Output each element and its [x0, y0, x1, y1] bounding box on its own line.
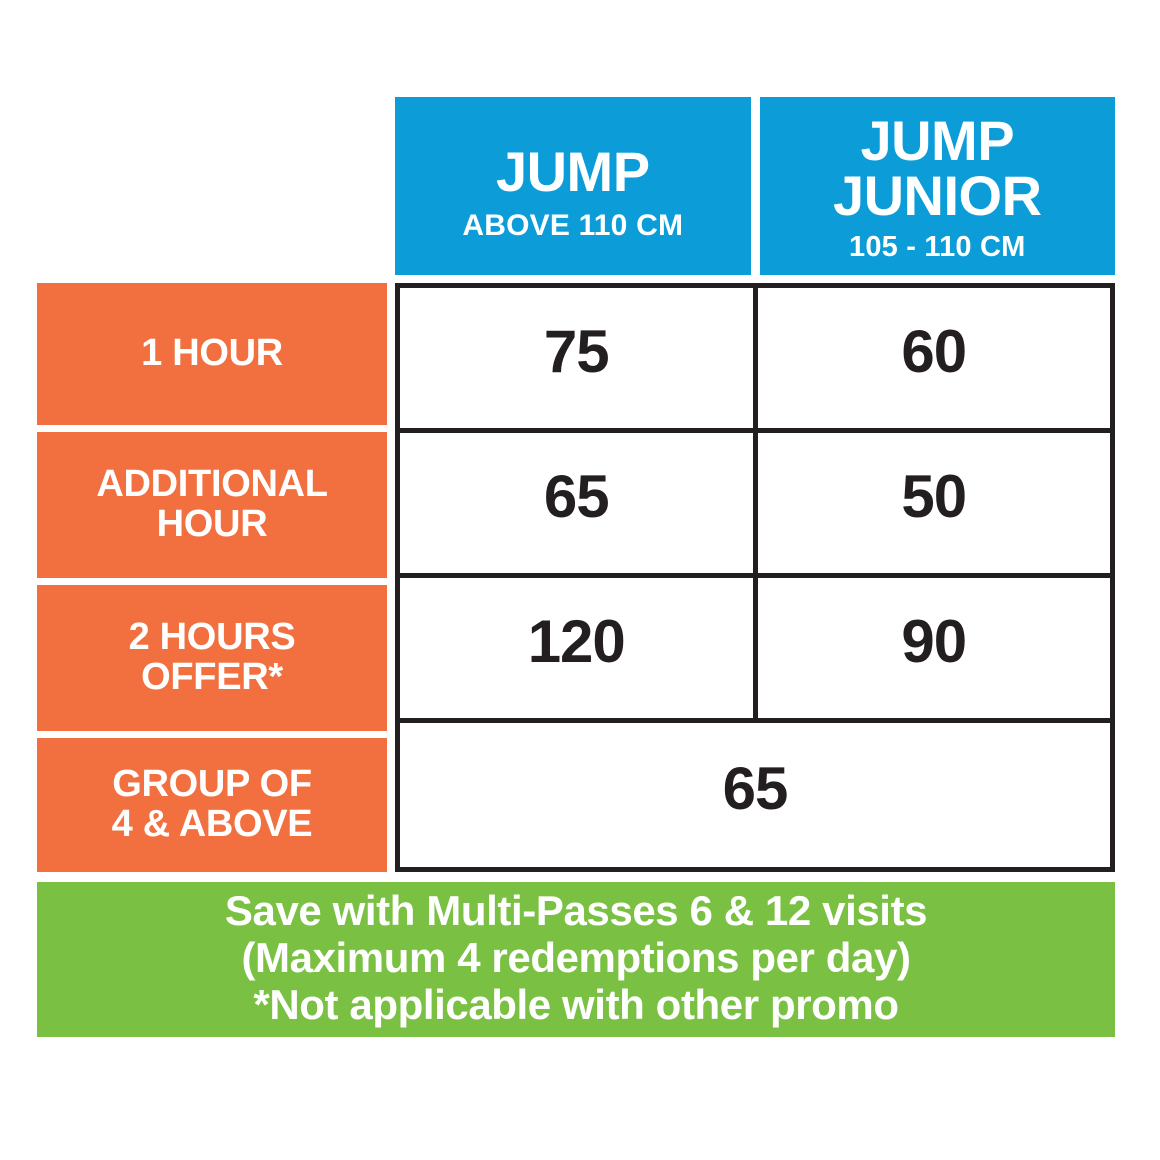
- column-header-jump-junior-title-line2: JUNIOR: [833, 169, 1042, 224]
- price-value-1-hour-jump-junior: 60: [901, 322, 966, 382]
- row-labels-column: 1 HOUR ADDITIONAL HOUR 2 HOURS OFFER* GR…: [37, 283, 387, 872]
- column-header-jump-junior: JUMP JUNIOR 105 - 110 CM: [760, 97, 1116, 275]
- price-cell-group-of-4-merged: 65: [400, 723, 1110, 867]
- price-value-additional-hour-jump: 65: [544, 467, 609, 527]
- row-label-group-of-4-line1: GROUP OF: [112, 763, 312, 805]
- column-header-jump: JUMP ABOVE 110 CM: [395, 97, 751, 275]
- price-value-1-hour-jump: 75: [544, 322, 609, 382]
- price-table: 75 60 65 50 120 90 65: [395, 283, 1115, 872]
- table-header-row: JUMP ABOVE 110 CM JUMP JUNIOR 105 - 110 …: [395, 97, 1115, 275]
- price-row-1-hour: 75 60: [400, 288, 1110, 433]
- row-label-additional-hour: ADDITIONAL HOUR: [37, 432, 387, 578]
- row-label-additional-hour-line1: ADDITIONAL: [96, 463, 327, 505]
- column-header-jump-title: JUMP: [496, 145, 650, 200]
- price-cell-additional-hour-jump: 65: [400, 433, 758, 573]
- column-header-jump-junior-title: JUMP: [860, 114, 1014, 169]
- row-label-2-hours-offer-text: 2 HOURS OFFER*: [129, 618, 296, 697]
- price-cell-1-hour-jump-junior: 60: [758, 288, 1111, 428]
- footer-notes-banner: Save with Multi-Passes 6 & 12 visits (Ma…: [37, 882, 1115, 1037]
- row-label-1-hour: 1 HOUR: [37, 283, 387, 425]
- row-label-group-of-4-line2: 4 & ABOVE: [112, 803, 313, 845]
- row-label-group-of-4: GROUP OF 4 & ABOVE: [37, 738, 387, 872]
- price-cell-2-hours-offer-jump: 120: [400, 578, 758, 718]
- price-row-group-of-4: 65: [400, 723, 1110, 867]
- price-value-group-of-4: 65: [723, 759, 788, 819]
- price-value-additional-hour-jump-junior: 50: [901, 467, 966, 527]
- footer-note-line-3: *Not applicable with other promo: [253, 981, 898, 1028]
- pricing-card: JUMP ABOVE 110 CM JUMP JUNIOR 105 - 110 …: [0, 0, 1160, 1160]
- footer-note-line-2: (Maximum 4 redemptions per day): [241, 934, 910, 981]
- row-label-1-hour-line1: 1 HOUR: [141, 332, 283, 374]
- price-cell-2-hours-offer-jump-junior: 90: [758, 578, 1111, 718]
- row-label-group-of-4-text: GROUP OF 4 & ABOVE: [112, 765, 313, 844]
- row-label-additional-hour-line2: HOUR: [157, 503, 268, 545]
- footer-note-line-1: Save with Multi-Passes 6 & 12 visits: [225, 887, 927, 934]
- row-label-1-hour-text: 1 HOUR: [141, 334, 283, 374]
- row-label-2-hours-offer-line1: 2 HOURS: [129, 616, 296, 658]
- column-header-jump-junior-subtitle: 105 - 110 CM: [849, 231, 1026, 264]
- row-label-2-hours-offer-line2: OFFER*: [141, 656, 283, 698]
- row-label-2-hours-offer: 2 HOURS OFFER*: [37, 585, 387, 731]
- price-cell-additional-hour-jump-junior: 50: [758, 433, 1111, 573]
- price-row-additional-hour: 65 50: [400, 433, 1110, 578]
- price-cell-1-hour-jump: 75: [400, 288, 758, 428]
- row-label-additional-hour-text: ADDITIONAL HOUR: [96, 465, 327, 544]
- column-header-jump-subtitle: ABOVE 110 CM: [462, 209, 683, 243]
- price-row-2-hours-offer: 120 90: [400, 578, 1110, 723]
- price-value-2-hours-offer-jump-junior: 90: [901, 612, 966, 672]
- price-value-2-hours-offer-jump: 120: [528, 612, 625, 672]
